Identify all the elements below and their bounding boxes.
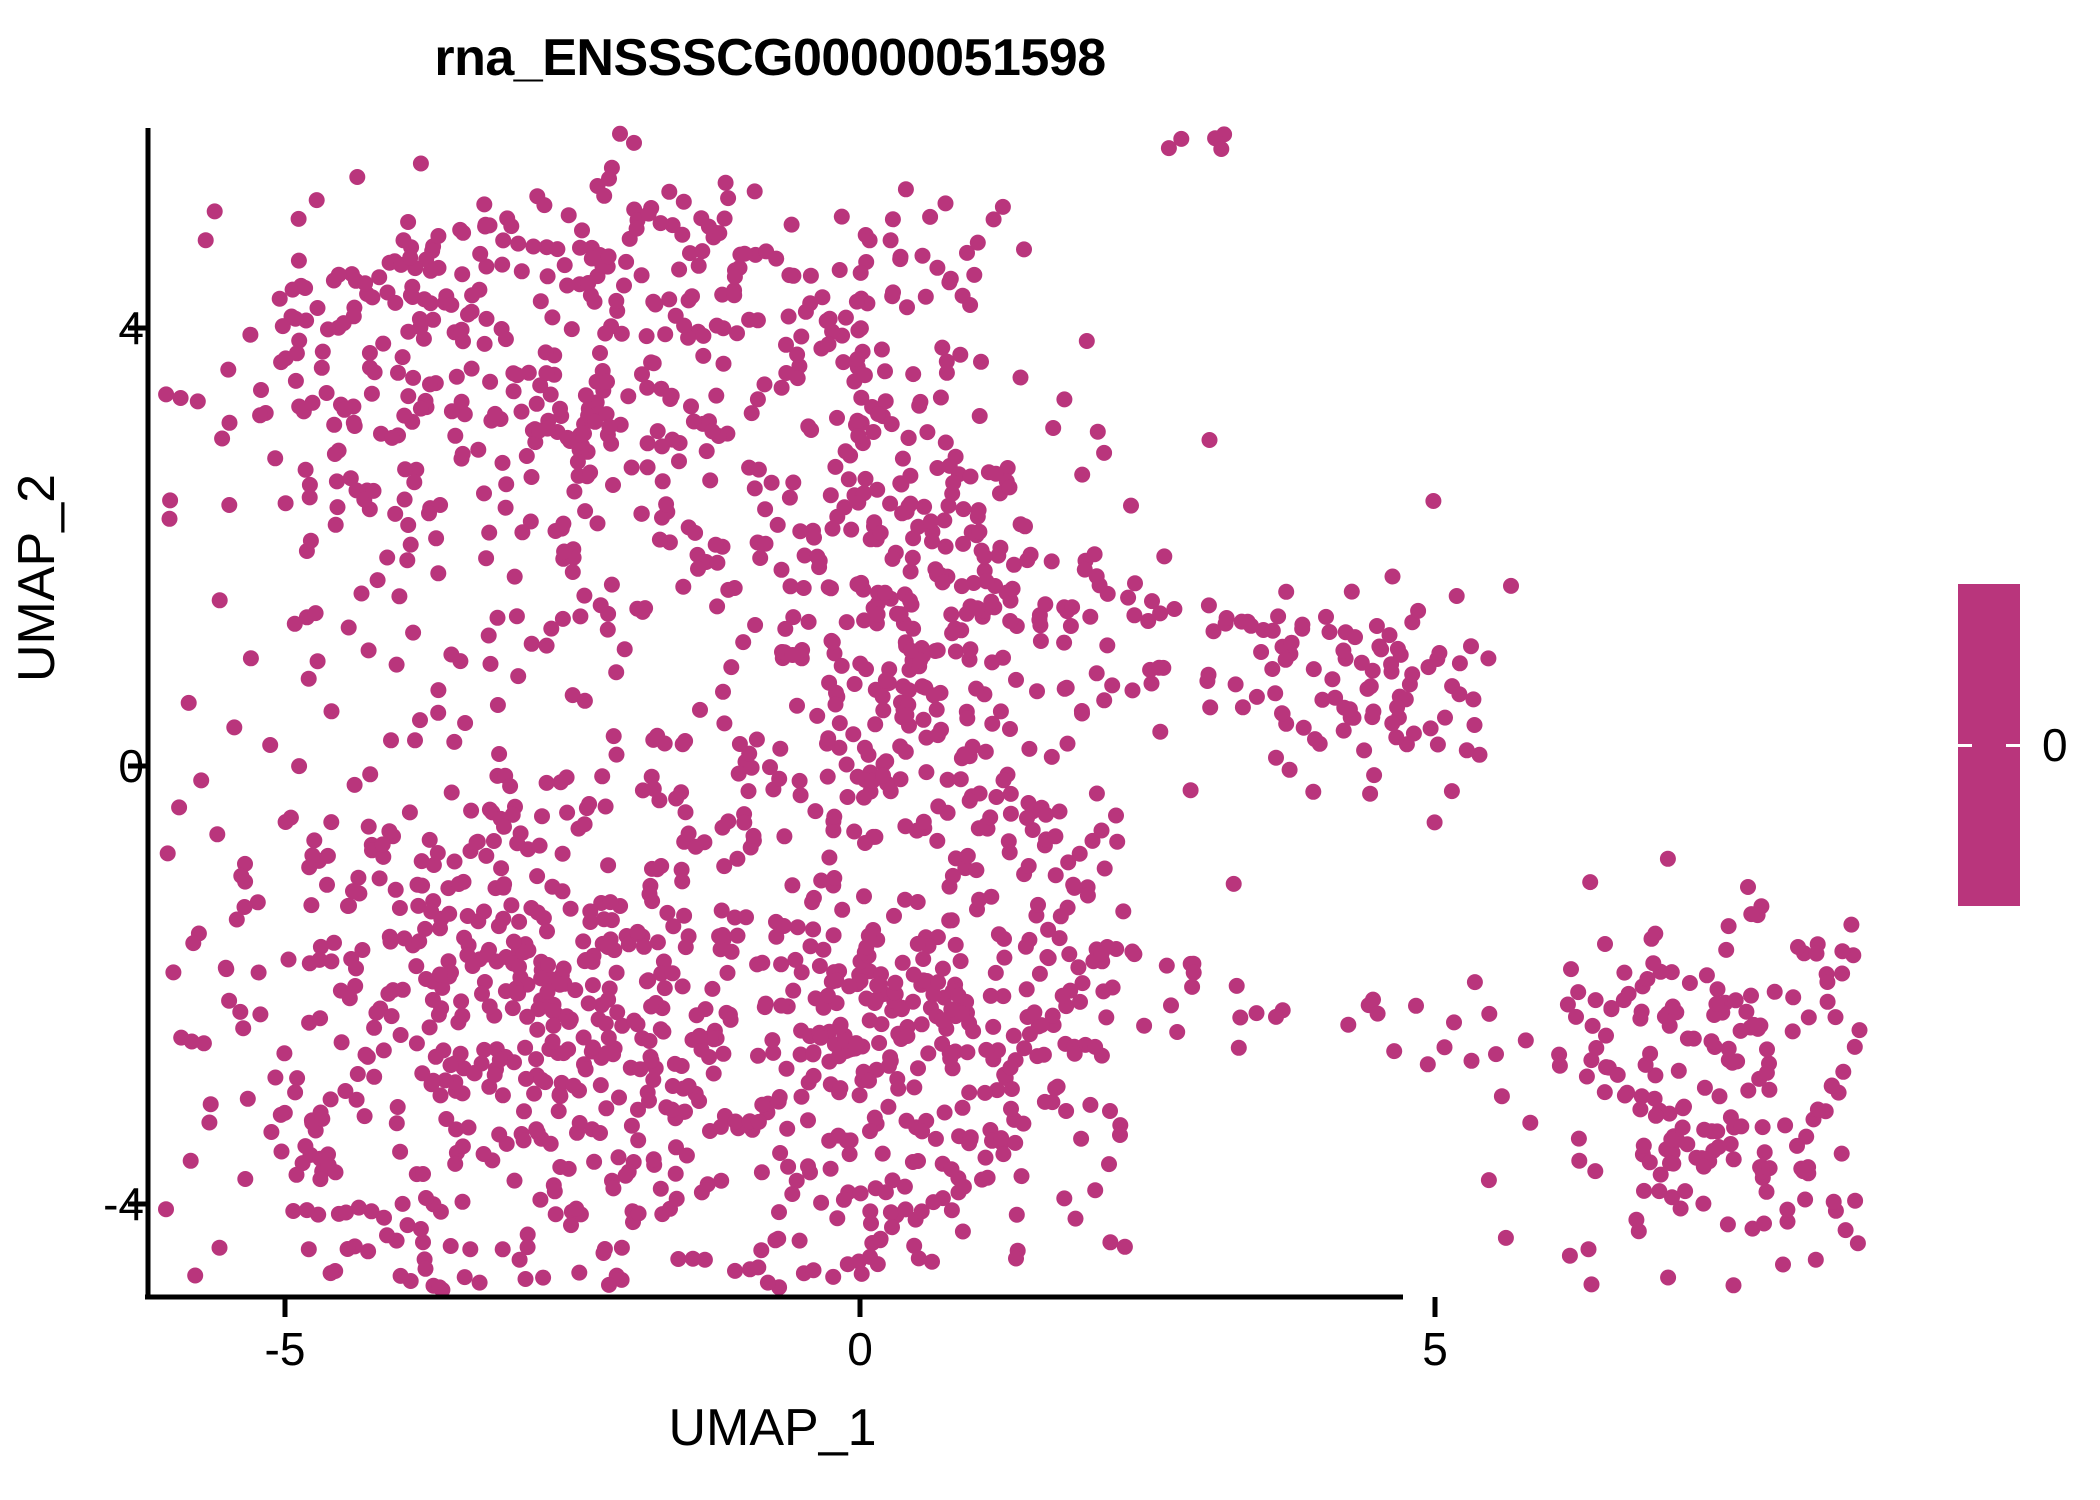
scatter-canvas (0, 0, 2100, 1500)
x-tick-label-neg5: -5 (265, 1322, 306, 1376)
x-axis-label: UMAP_1 (145, 1398, 1400, 1458)
x-tick-label-5: 5 (1422, 1322, 1448, 1376)
y-axis-label: UMAP_2 (7, 358, 67, 798)
umap-feature-plot: rna_ENSSSCG00000051598 4 0 -4 -5 0 5 UMA… (0, 0, 2100, 1500)
plot-area (0, 0, 2100, 1500)
y-tick-label-0: 0 (118, 739, 144, 793)
colorbar-tick-right (2006, 744, 2020, 747)
colorbar-tick-label: 0 (2042, 718, 2068, 772)
y-tick-label-neg4: -4 (103, 1177, 144, 1231)
x-tick-label-0: 0 (847, 1322, 873, 1376)
scatter-points (158, 126, 1868, 1298)
y-tick-label-4: 4 (118, 301, 144, 355)
colorbar-tick-left (1958, 744, 1972, 747)
